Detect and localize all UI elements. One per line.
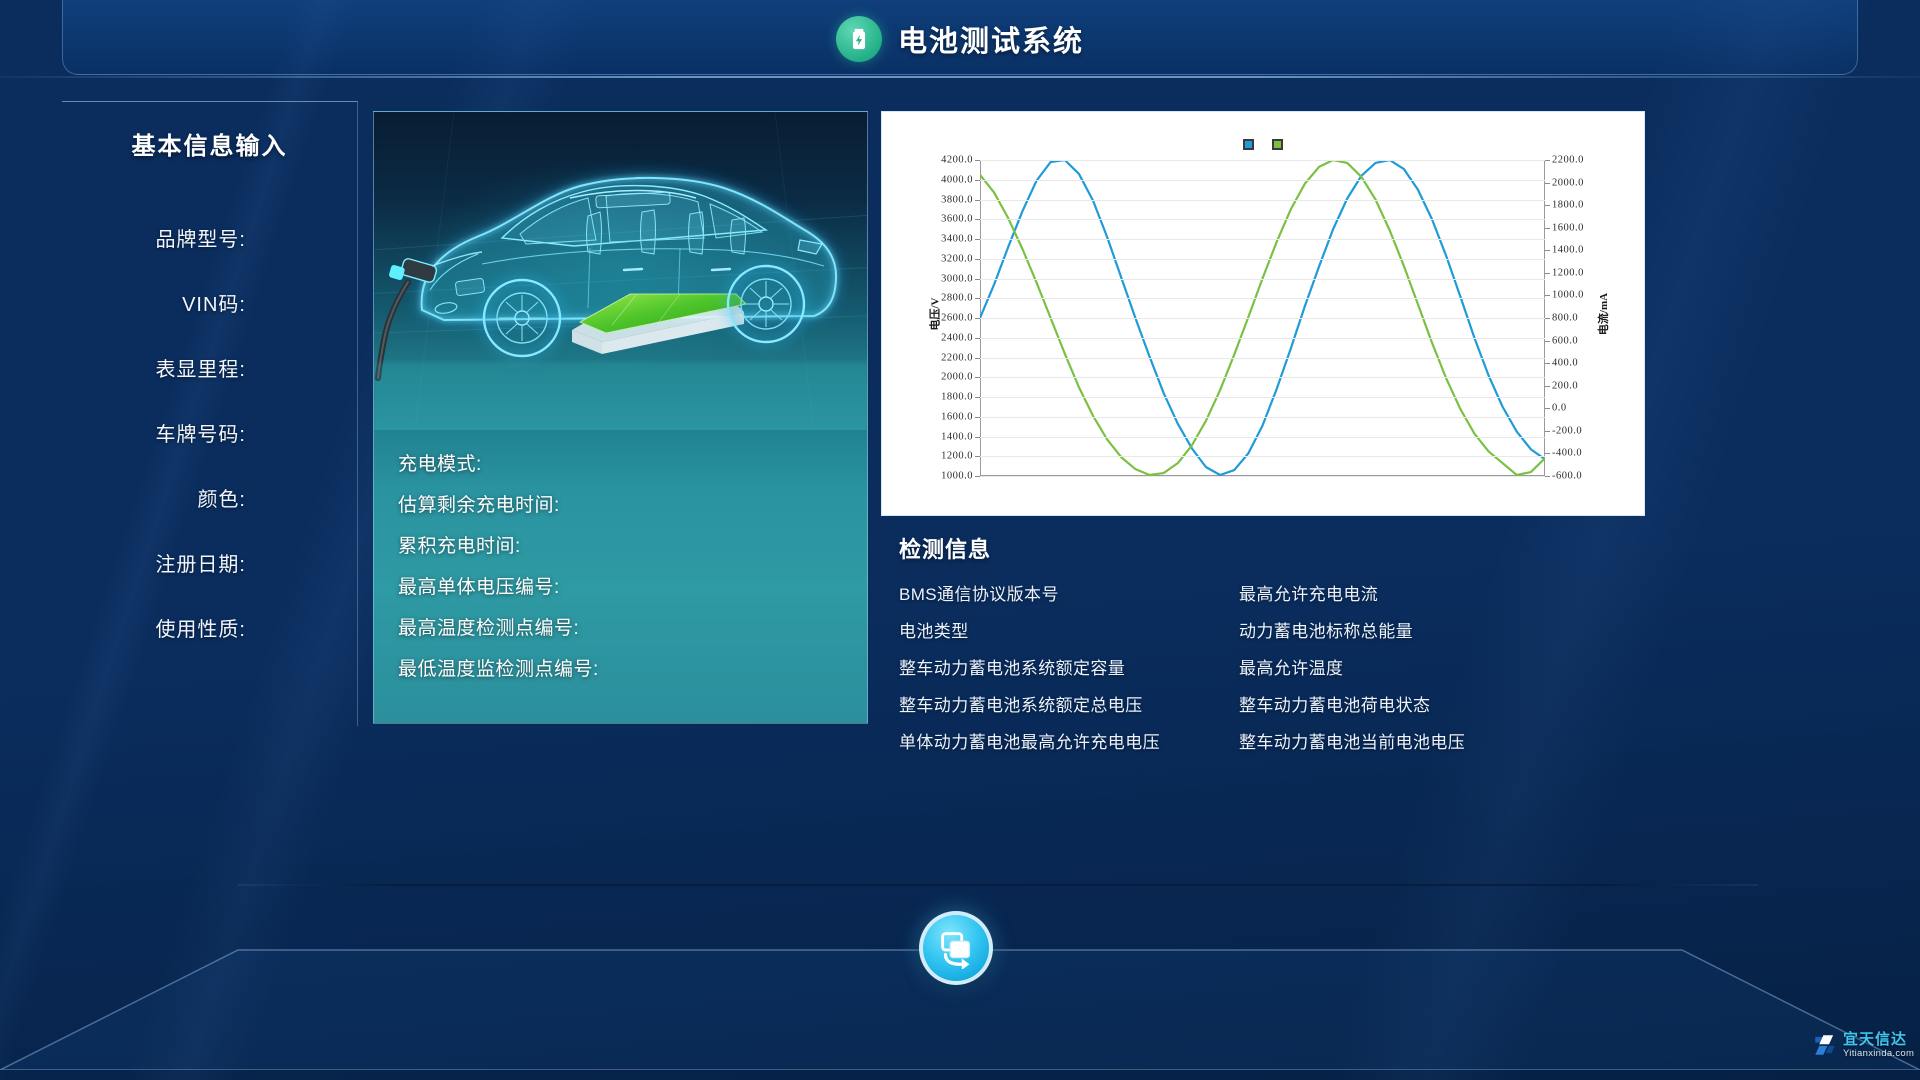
chart-tick-mark — [1545, 160, 1550, 161]
chart-tick-mark — [975, 298, 980, 299]
detection-info-title: 检测信息 — [899, 532, 1645, 564]
chart-y-tick-label: 2400.0 — [941, 332, 973, 343]
chart-gridline — [980, 219, 1545, 220]
chart-y-tick-label: 2600.0 — [941, 313, 973, 324]
detection-item-max-allowed-temperature[interactable]: 最高允许温度 — [1239, 654, 1645, 679]
detection-item-max-allowed-charge-current[interactable]: 最高允许充电电流 — [1239, 580, 1645, 605]
field-label: 充电模式: — [398, 449, 482, 476]
chart-plot-area: 4200.04000.03800.03600.03400.03200.03000… — [980, 160, 1545, 476]
chart-y2-tick-label: 2200.0 — [1552, 155, 1584, 166]
chart-gridline — [980, 397, 1545, 398]
chart-y-tick-label: 3200.0 — [941, 253, 973, 264]
sidebar-field-list: 品牌型号: VIN码: 表显里程: 车牌号码: 颜色: 注册日期: 使用性质: — [62, 205, 357, 660]
field-label: 颜色: — [197, 483, 246, 512]
chart-y2-tick-label: 600.0 — [1552, 335, 1578, 346]
chart-tick-mark — [975, 397, 980, 398]
detection-info-panel: 检测信息 BMS通信协议版本号 最高允许充电电流 电池类型 动力蓄电池标称总能量… — [881, 521, 1645, 726]
field-label: 最高温度检测点编号: — [398, 613, 579, 640]
chart-tick-mark — [975, 456, 980, 457]
sidebar-field-brand-model[interactable]: 品牌型号: — [62, 205, 357, 270]
chart-y2-tick-label: -400.0 — [1552, 448, 1582, 459]
chart-y-tick-label: 3800.0 — [941, 194, 973, 205]
detection-item-rated-total-voltage[interactable]: 整车动力蓄电池系统额定总电压 — [899, 691, 1239, 716]
chart-y2-tick-label: 2000.0 — [1552, 177, 1584, 188]
center-field-accumulated-charge-time[interactable]: 累积充电时间: — [374, 524, 868, 565]
chart-y2-tick-label: 200.0 — [1552, 380, 1578, 391]
chart-tick-mark — [975, 180, 980, 181]
detection-item-current-battery-voltage[interactable]: 整车动力蓄电池当前电池电压 — [1239, 728, 1645, 753]
chart-gridline — [980, 298, 1545, 299]
chart-tick-mark — [1545, 205, 1550, 206]
detection-item-state-of-charge[interactable]: 整车动力蓄电池荷电状态 — [1239, 691, 1645, 716]
chart-gridline — [980, 259, 1545, 260]
detection-item-rated-capacity[interactable]: 整车动力蓄电池系统额定容量 — [899, 654, 1239, 679]
chart-gridline — [980, 377, 1545, 378]
chart-gridline — [980, 456, 1545, 457]
field-label: 表显里程: — [155, 353, 246, 382]
chart-tick-mark — [975, 219, 980, 220]
chart-tick-mark — [975, 160, 980, 161]
chart-y-tick-label: 1000.0 — [941, 471, 973, 482]
field-label: 品牌型号: — [155, 223, 246, 252]
detection-item-cell-max-allowed-charge-voltage[interactable]: 单体动力蓄电池最高允许充电电压 — [899, 728, 1239, 753]
chart-y2-axis-label: 电流/mA — [1595, 292, 1611, 334]
watermark-logo-icon — [1812, 1032, 1838, 1058]
sidebar-field-mileage[interactable]: 表显里程: — [62, 335, 357, 400]
chart-y2-tick-label: 1800.0 — [1552, 200, 1584, 211]
chart-y-tick-label: 3000.0 — [941, 273, 973, 284]
chart-y-axis-label: 电压/V — [927, 297, 943, 330]
chart-gridline — [980, 358, 1545, 359]
header: 电池测试系统 — [0, 0, 1920, 78]
chart-gridline — [980, 200, 1545, 201]
chart-y2-tick-label: 400.0 — [1552, 358, 1578, 369]
chart-gridline — [980, 180, 1545, 181]
charging-field-list: 充电模式: 估算剩余充电时间: 累积充电时间: 最高单体电压编号: 最高温度检测… — [374, 442, 868, 688]
chart-gridline — [980, 160, 1545, 161]
chart-tick-mark — [1545, 273, 1550, 274]
chart-tick-mark — [1545, 453, 1550, 454]
chart-tick-mark — [1545, 363, 1550, 364]
chart-tick-mark — [1545, 295, 1550, 296]
chart-tick-mark — [975, 377, 980, 378]
basic-info-sidebar: 基本信息输入 品牌型号: VIN码: 表显里程: 车牌号码: 颜色: 注册日期:… — [62, 101, 358, 726]
page-title: 电池测试系统 — [898, 18, 1084, 60]
watermark: 宜天信达 Yitianxinda.com — [1812, 1032, 1914, 1059]
chart-gridline — [980, 239, 1545, 240]
field-label: 最高单体电压编号: — [398, 572, 560, 599]
charging-status-panel: 充电模式: 估算剩余充电时间: 累积充电时间: 最高单体电压编号: 最高温度检测… — [373, 111, 868, 724]
chart-legend-swatch-1[interactable] — [1272, 139, 1283, 150]
chart-gridline — [980, 318, 1545, 319]
chart-y-tick-label: 2200.0 — [941, 352, 973, 363]
field-label: 使用性质: — [155, 613, 246, 642]
field-label: 注册日期: — [155, 548, 246, 577]
chart-y2-tick-label: -600.0 — [1552, 471, 1582, 482]
car-reflection — [374, 362, 868, 430]
chart-y2-tick-label: 0.0 — [1552, 403, 1567, 414]
chart-gridline — [980, 437, 1545, 438]
chart-tick-mark — [975, 417, 980, 418]
chart-tick-mark — [1545, 250, 1550, 251]
center-field-max-temp-probe-number[interactable]: 最高温度检测点编号: — [374, 606, 868, 647]
chart-y-tick-label: 1200.0 — [941, 451, 973, 462]
chart-y2-tick-label: 800.0 — [1552, 313, 1578, 324]
chart-y-tick-label: 4000.0 — [941, 174, 973, 185]
sidebar-field-vin[interactable]: VIN码: — [62, 270, 357, 335]
chart-tick-mark — [1545, 341, 1550, 342]
chart-y2-tick-label: 1200.0 — [1552, 267, 1584, 278]
detection-info-grid: BMS通信协议版本号 最高允许充电电流 电池类型 动力蓄电池标称总能量 整车动力… — [899, 580, 1645, 753]
chart-y2-tick-label: -200.0 — [1552, 425, 1582, 436]
chart-y-tick-label: 3600.0 — [941, 214, 973, 225]
chart-y-tick-label: 3400.0 — [941, 234, 973, 245]
chart-gridline — [980, 417, 1545, 418]
center-field-max-cell-voltage-number[interactable]: 最高单体电压编号: — [374, 565, 868, 606]
center-field-estimated-remaining-time[interactable]: 估算剩余充电时间: — [374, 483, 868, 524]
chart-tick-mark — [1545, 476, 1550, 477]
center-field-min-temp-probe-number[interactable]: 最低温度监检测点编号: — [374, 647, 868, 688]
field-label: 估算剩余充电时间: — [398, 490, 560, 517]
stage-divider-line — [238, 884, 1758, 886]
field-label: VIN码: — [182, 288, 246, 317]
ev-xray-car-illustration — [374, 112, 868, 430]
chart-y2-tick-label: 1400.0 — [1552, 245, 1584, 256]
chart-tick-mark — [975, 318, 980, 319]
watermark-en-text: Yitianxinda.com — [1843, 1049, 1914, 1059]
detection-item-nominal-total-energy[interactable]: 动力蓄电池标称总能量 — [1239, 617, 1645, 642]
chart-y-tick-label: 1400.0 — [941, 431, 973, 442]
detection-item-battery-type[interactable]: 电池类型 — [899, 617, 1239, 642]
chart-tick-mark — [975, 358, 980, 359]
sidebar-field-color[interactable]: 颜色: — [62, 465, 357, 530]
chart-y-tick-label: 1600.0 — [941, 411, 973, 422]
chart-tick-mark — [1545, 408, 1550, 409]
center-field-charge-mode[interactable]: 充电模式: — [374, 442, 868, 483]
chart-tick-mark — [975, 200, 980, 201]
chart-legend[interactable] — [1243, 139, 1283, 150]
detection-item-bms-protocol-version[interactable]: BMS通信协议版本号 — [899, 580, 1239, 605]
chart-y-tick-label: 2000.0 — [941, 372, 973, 383]
chart-y-tick-label: 2800.0 — [941, 293, 973, 304]
chart-tick-mark — [1545, 183, 1550, 184]
switch-view-button[interactable] — [919, 911, 993, 985]
chart-y-tick-label: 1800.0 — [941, 392, 973, 403]
chart-y-tick-label: 4200.0 — [941, 155, 973, 166]
header-divider — [0, 76, 1920, 78]
chart-gridline — [980, 279, 1545, 280]
chart-tick-mark — [975, 338, 980, 339]
voltage-current-chart-card: 电压/V 电流/mA 4200.04000.03800.03600.03400.… — [881, 111, 1645, 516]
chart-y2-tick-label: 1600.0 — [1552, 222, 1584, 233]
chart-legend-swatch-0[interactable] — [1243, 139, 1254, 150]
chart-tick-mark — [975, 279, 980, 280]
chart-y2-tick-label: 1000.0 — [1552, 290, 1584, 301]
sidebar-field-register-date[interactable]: 注册日期: — [62, 530, 357, 595]
battery-bolt-icon — [836, 16, 882, 62]
switch-windows-icon — [935, 927, 977, 969]
chart-tick-mark — [1545, 228, 1550, 229]
field-label: 车牌号码: — [155, 418, 246, 447]
chart-tick-mark — [975, 437, 980, 438]
chart-tick-mark — [975, 259, 980, 260]
chart-tick-mark — [1545, 431, 1550, 432]
field-label: 累积充电时间: — [398, 531, 521, 558]
sidebar-title: 基本信息输入 — [62, 126, 357, 161]
chart-gridline — [980, 338, 1545, 339]
field-label: 最低温度监检测点编号: — [398, 654, 599, 681]
chart-tick-mark — [1545, 318, 1550, 319]
sidebar-field-usage-type[interactable]: 使用性质: — [62, 595, 357, 660]
sidebar-field-plate-number[interactable]: 车牌号码: — [62, 400, 357, 465]
chart-gridline — [980, 476, 1545, 477]
chart-tick-mark — [975, 239, 980, 240]
chart-tick-mark — [1545, 386, 1550, 387]
chart-tick-mark — [975, 476, 980, 477]
watermark-cn-text: 宜天信达 — [1843, 1032, 1914, 1047]
